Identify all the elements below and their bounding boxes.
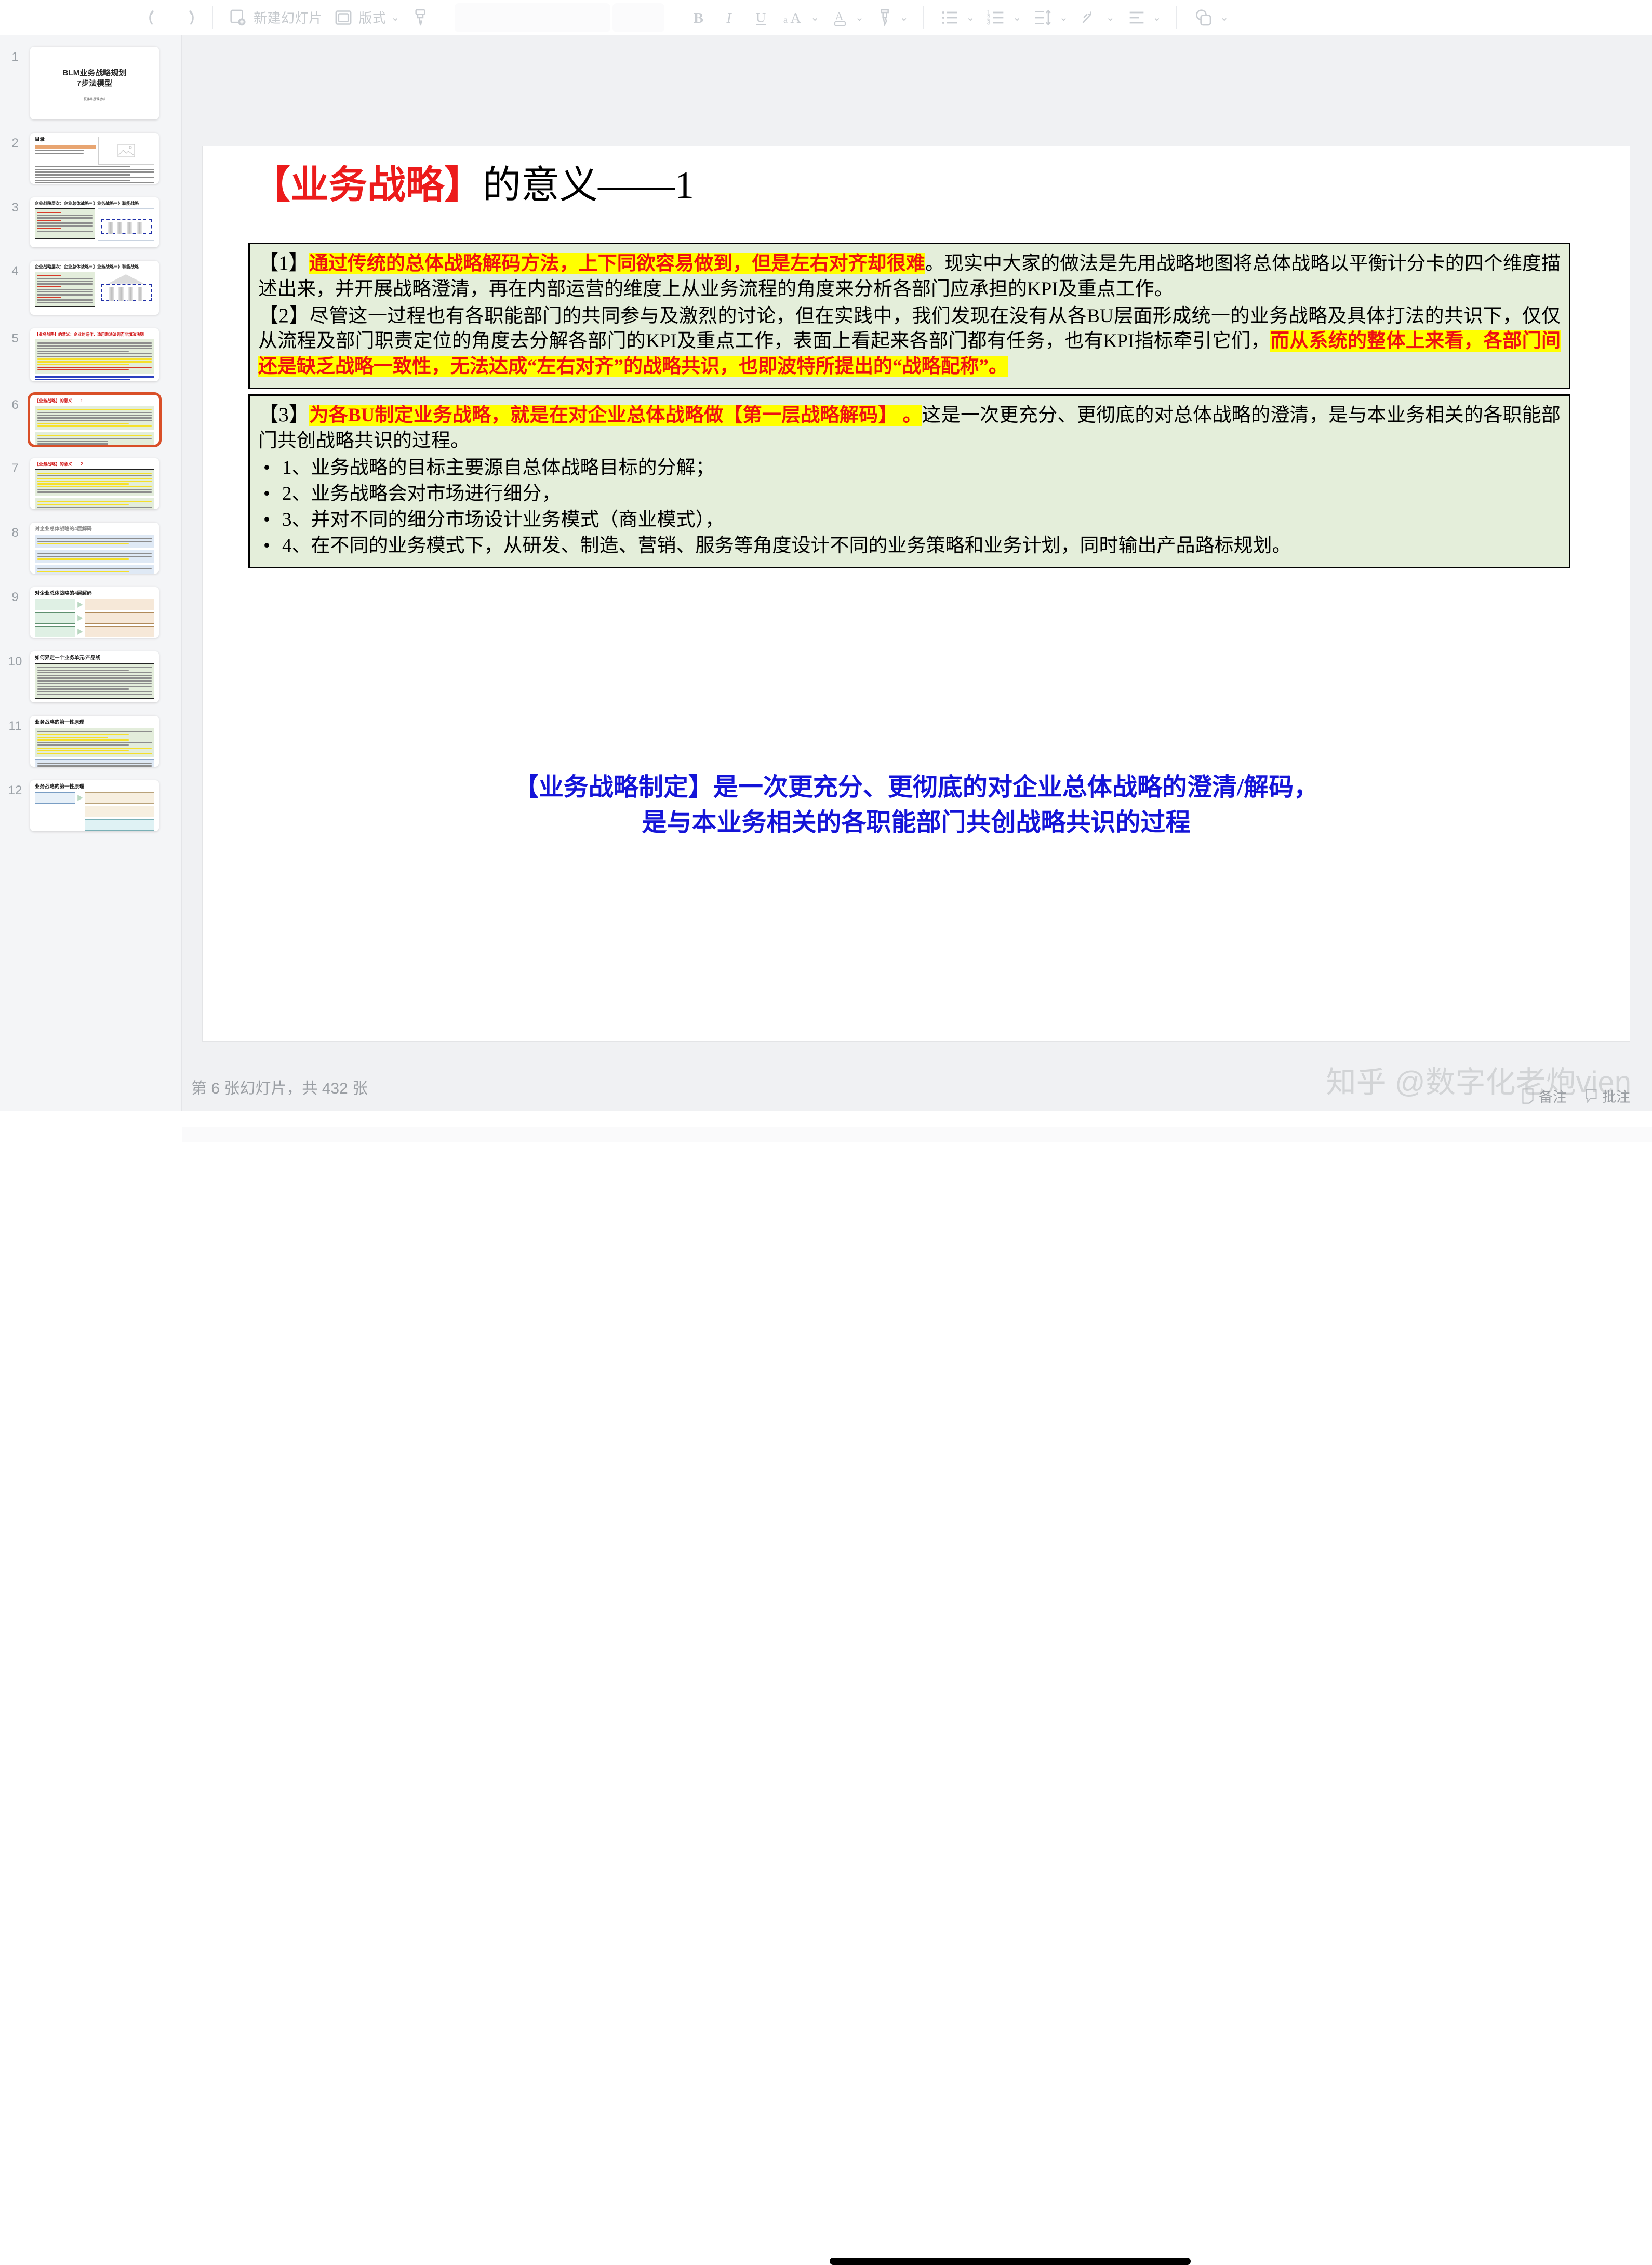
chevron-down-icon: ⌄ (1220, 11, 1229, 24)
font-size-button[interactable]: a A ⌄ (777, 3, 824, 32)
underline-button[interactable]: U (745, 3, 777, 32)
toolbar-separator-3 (1176, 6, 1177, 29)
bold-button[interactable]: B (683, 3, 714, 32)
svg-text:B: B (694, 10, 703, 26)
thumbnail-diagram (98, 208, 155, 241)
paragraph-1: 【1】通过传统的总体战略解码方法，上下同欲容易做到，但是左右对齐却很难。现实中大… (258, 250, 1561, 302)
thumbnail-number: 10 (0, 651, 30, 669)
thumbnail-title: 如何界定一个业务单元/产品线 (35, 655, 154, 661)
chevron-down-icon: ⌄ (900, 11, 909, 24)
chevron-down-icon: ⌄ (810, 11, 819, 24)
thumbnail-image-placeholder (98, 137, 154, 165)
notes-button[interactable]: 备注 (1521, 1086, 1567, 1106)
thumbnail-preview[interactable]: 目录 (30, 133, 159, 184)
redo-button[interactable] (171, 3, 203, 32)
bullet-dot-icon: • (258, 508, 282, 532)
thumbnail-diagram (98, 272, 155, 308)
horizontal-scrollbar-track[interactable] (182, 1127, 1652, 1142)
thumbnail-item-3[interactable]: 3 企业战略层次：企业总体战略＝》业务战略＝》职能战略 (0, 197, 182, 247)
thumbnail-title: 对企业总体战略的4层解码 (35, 591, 154, 597)
thumbnail-item-5[interactable]: 5 【业务战略】的意义：企业的运作，适用乘法法则而非加法法则 (0, 328, 182, 381)
svg-text:U: U (756, 9, 766, 25)
thumbnail-title: 企业战略层次：企业总体战略＝》业务战略＝》职能战略 (35, 264, 154, 270)
font-color-button[interactable]: A ⌄ (824, 3, 869, 32)
undo-button[interactable] (140, 3, 171, 32)
toolbar-left-gap (0, 17, 140, 18)
thumbnail-number: 5 (0, 328, 30, 346)
chevron-down-icon: ⌄ (1153, 11, 1162, 24)
thumbnail-preview[interactable]: 对企业总体战略的4层解码 (30, 587, 159, 638)
paragraph-2-marker: 【2】 (258, 304, 310, 327)
content-box-2[interactable]: 【3】为各BU制定业务战略，就是在对企业总体战略做【第一层战略解码】 。这是一次… (248, 394, 1570, 568)
list-item-text: 4、在不同的业务模式下，从研发、制造、营销、服务等角度设计不同的业务策略和业务计… (282, 534, 1561, 558)
format-painter-icon (410, 7, 431, 28)
thumbnail-preview[interactable]: 业务战略的第一性原理 (30, 780, 159, 831)
notes-icon (1521, 1088, 1535, 1104)
bullet-dot-icon: • (258, 482, 282, 507)
new-slide-icon (228, 7, 248, 28)
thumbnail-title: 目录 (35, 137, 96, 143)
numbered-list-icon: 1 2 3 (985, 7, 1008, 28)
thumbnail-number: 8 (0, 523, 30, 540)
thumbnail-title: 【业务战略】的意义——2 (35, 462, 154, 467)
thumbnail-item-9[interactable]: 9 对企业总体战略的4层解码 (0, 587, 182, 638)
thumbnail-preview[interactable]: 对企业总体战略的4层解码 (30, 523, 159, 574)
bullet-list-button[interactable]: ⌄ (934, 3, 980, 32)
paragraph-3: 【3】为各BU制定业务战略，就是在对企业总体战略做【第一层战略解码】 。这是一次… (258, 402, 1561, 454)
underline-icon: U (751, 7, 771, 28)
thumbnail-preview[interactable]: 企业战略层次：企业总体战略＝》业务战略＝》职能战略 (30, 197, 159, 247)
comments-button[interactable]: 批注 (1584, 1086, 1630, 1106)
undo-icon (145, 7, 166, 28)
thumbnail-title: 【业务战略】的意义——1 (35, 398, 154, 404)
thumbnail-number: 4 (0, 261, 30, 278)
thumbnail-preview[interactable]: 【业务战略】的意义——2 (30, 458, 159, 509)
thumbnail-item-1[interactable]: 1 BLM业务战略规划7步法模型 夏伟峰授课总结 (0, 47, 182, 119)
align-icon (1125, 7, 1148, 28)
new-slide-button[interactable]: 新建幻灯片 (222, 3, 328, 32)
font-color-icon: A (830, 7, 850, 28)
chevron-down-icon: ⌄ (855, 11, 864, 24)
thumbnail-preview[interactable]: 业务战略的第一性原理 (30, 716, 159, 767)
chevron-down-icon: ⌄ (1059, 11, 1068, 24)
horizontal-scrollbar-thumb[interactable] (830, 2258, 1191, 2265)
thumbnail-preview[interactable]: 企业战略层次：企业总体战略＝》业务战略＝》职能战略 (30, 261, 159, 315)
toolbar: 新建幻灯片 版式 ⌄ B I U a (0, 0, 1652, 35)
comments-label: 批注 (1602, 1086, 1630, 1106)
toolbar-separator-1 (212, 6, 213, 29)
layout-button[interactable]: 版式 ⌄ (328, 3, 405, 32)
font-name-field[interactable] (455, 3, 610, 32)
conclusion-text[interactable]: 【业务战略制定】是一次更充分、更彻底的对企业总体战略的澄清/解码， 是与本业务相… (203, 770, 1630, 841)
notes-label: 备注 (1539, 1086, 1567, 1106)
align-button[interactable]: ⌄ (1120, 3, 1167, 32)
thumbnail-number: 7 (0, 458, 30, 476)
thumbnail-title: BLM业务战略规划7步法模型 (35, 50, 154, 89)
conclusion-line-1: 【业务战略制定】是一次更充分、更彻底的对企业总体战略的澄清/解码， (203, 770, 1630, 805)
thumbnail-preview[interactable]: 【业务战略】的意义：企业的运作，适用乘法法则而非加法法则 (30, 328, 159, 381)
thumbnail-item-6[interactable]: 6 【业务战略】的意义——1 (0, 395, 182, 445)
paragraph-2: 【2】尽管这一过程也有各职能部门的共同参与及激烈的讨论，但在实践中，我们发现在没… (258, 303, 1561, 379)
list-item-text: 2、业务战略会对市场进行细分， (282, 482, 1561, 507)
highlight-icon (874, 7, 895, 28)
list-item-text: 1、业务战略的目标主要源自总体战略目标的分解； (282, 456, 1561, 481)
slide-title-black: 的意义——1 (483, 164, 694, 207)
italic-icon: I (720, 7, 740, 28)
slide-counter[interactable]: 第 6 张幻灯片，共 432 张 (191, 1075, 368, 1098)
bold-icon: B (688, 7, 709, 28)
thumbnail-item-10[interactable]: 10 如何界定一个业务单元/产品线 (0, 651, 182, 702)
bullet-dot-icon: • (258, 456, 282, 481)
chevron-down-icon: ⌄ (391, 11, 400, 24)
thumbnail-preview-selected[interactable]: 【业务战略】的意义——1 (30, 395, 159, 445)
comment-icon (1584, 1088, 1598, 1104)
thumbnail-item-7[interactable]: 7 【业务战略】的意义——2 (0, 458, 182, 509)
line-spacing-button[interactable]: ⌄ (1027, 3, 1073, 32)
svg-text:3: 3 (987, 19, 990, 26)
paragraph-3-highlight: 为各BU制定业务战略，就是在对企业总体战略做【第一层战略解码】 。 (309, 405, 922, 426)
slide-thumbnail-panel[interactable]: 1 BLM业务战略规划7步法模型 夏伟峰授课总结 2 目录 (0, 35, 182, 1154)
paragraph-1-marker: 【1】 (258, 252, 309, 274)
font-size-field[interactable] (612, 3, 664, 32)
thumbnail-number: 12 (0, 780, 30, 798)
thumbnail-preview[interactable]: 如何界定一个业务单元/产品线 (30, 651, 159, 702)
slide-title[interactable]: 【业务战略】的意义——1 (252, 165, 694, 207)
chevron-down-icon: ⌄ (1106, 11, 1115, 24)
thumbnail-title: 【业务战略】的意义：企业的运作，适用乘法法则而非加法法则 (35, 332, 154, 337)
paragraph-3-marker: 【3】 (258, 404, 309, 426)
list-item: • 4、在不同的业务模式下，从研发、制造、营销、服务等角度设计不同的业务策略和业… (258, 534, 1561, 558)
slide-canvas[interactable]: 【业务战略】的意义——1 【1】通过传统的总体战略解码方法，上下同欲容易做到，但… (203, 146, 1630, 1041)
thumbnail-number: 1 (0, 47, 30, 64)
indent-icon (1078, 7, 1101, 28)
list-item: • 3、并对不同的细分市场设计业务模式（商业模式）， (258, 508, 1561, 532)
highlight-button[interactable]: ⌄ (869, 3, 914, 32)
thumbnail-item-2[interactable]: 2 目录 (0, 133, 182, 184)
layout-label: 版式 (359, 8, 387, 27)
chevron-down-icon: ⌄ (966, 11, 975, 24)
numbered-list-button[interactable]: 1 2 3 ⌄ (980, 3, 1027, 32)
status-bar-actions[interactable]: 备注 批注 (1521, 1086, 1630, 1106)
bullet-dot-icon: • (258, 534, 282, 558)
thumbnail-number: 11 (0, 716, 30, 734)
list-item-text: 3、并对不同的细分市场设计业务模式（商业模式）， (282, 508, 1561, 532)
chevron-down-icon: ⌄ (1012, 11, 1021, 24)
line-spacing-icon (1032, 7, 1055, 28)
conclusion-line-2: 是与本业务相关的各职能部门共创战略共识的过程 (203, 805, 1630, 841)
svg-text:a: a (783, 15, 788, 25)
new-slide-label: 新建幻灯片 (254, 8, 323, 27)
thumbnail-number: 9 (0, 587, 30, 605)
format-painter-button[interactable] (405, 3, 436, 32)
paragraph-1-highlight: 通过传统的总体战略解码方法，上下同欲容易做到，但是左右对齐却很难 (309, 253, 925, 274)
editor-area[interactable]: 【业务战略】的意义——1 【1】通过传统的总体战略解码方法，上下同欲容易做到，但… (182, 35, 1652, 1154)
shape-icon (1191, 7, 1215, 29)
thumbnail-title: 业务战略的第一性原理 (35, 720, 154, 726)
thumbnail-item-11[interactable]: 11 业务战略的第一性原理 (0, 716, 182, 767)
slide-title-red: 【业务战略】 (252, 164, 483, 207)
bullet-list: • 1、业务战略的目标主要源自总体战略目标的分解； • 2、业务战略会对市场进行… (258, 456, 1561, 558)
thumbnail-number: 2 (0, 133, 30, 151)
list-item: • 2、业务战略会对市场进行细分， (258, 482, 1561, 507)
shape-button[interactable]: ⌄ (1186, 3, 1234, 32)
thumbnail-subtitle: 夏伟峰授课总结 (35, 97, 154, 101)
redo-icon (177, 7, 197, 28)
thumbnail-preview[interactable]: BLM业务战略规划7步法模型 夏伟峰授课总结 (30, 47, 159, 119)
layout-icon (333, 7, 354, 28)
thumbnail-title: 企业战略层次：企业总体战略＝》业务战略＝》职能战略 (35, 201, 154, 206)
toolbar-separator-2 (923, 6, 924, 29)
italic-button[interactable]: I (714, 3, 745, 32)
thumbnail-item-8[interactable]: 8 对企业总体战略的4层解码 (0, 523, 182, 574)
thumbnail-item-12[interactable]: 12 业务战略的第一性原理 (0, 780, 182, 831)
thumbnail-title: 业务战略的第一性原理 (35, 784, 154, 790)
content-box-1[interactable]: 【1】通过传统的总体战略解码方法，上下同欲容易做到，但是左右对齐却很难。现实中大… (248, 243, 1570, 389)
indent-button[interactable]: ⌄ (1073, 3, 1120, 32)
image-icon (117, 144, 135, 157)
thumbnail-number: 3 (0, 197, 30, 215)
font-size-icon: a A (782, 7, 806, 28)
svg-text:A: A (791, 10, 802, 26)
thumbnail-title: 对企业总体战略的4层解码 (35, 526, 154, 532)
svg-text:I: I (726, 10, 732, 26)
thumbnail-item-4[interactable]: 4 企业战略层次：企业总体战略＝》业务战略＝》职能战略 (0, 261, 182, 315)
list-item: • 1、业务战略的目标主要源自总体战略目标的分解； (258, 456, 1561, 481)
thumbnail-number: 6 (0, 395, 30, 412)
bullet-list-icon (939, 7, 962, 28)
